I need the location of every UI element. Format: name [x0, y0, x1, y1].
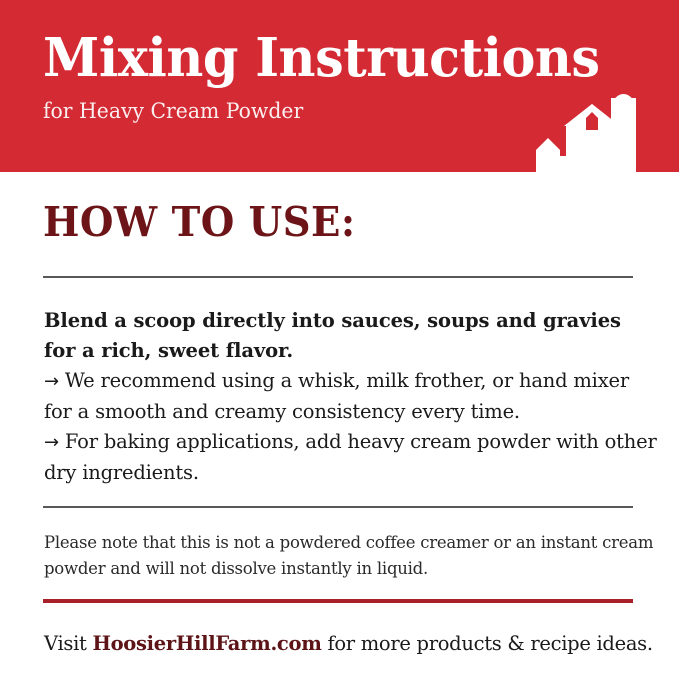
header-text-block: Mixing Instructions for Heavy Cream Powd… [43, 27, 563, 125]
instruction-bullet-2-line-1: → For baking applications, add heavy cre… [44, 427, 644, 458]
disclaimer-line-1: Please note that this is not a powdered … [44, 530, 644, 556]
arrow-right-icon-2: → [44, 432, 59, 453]
header-banner: Mixing Instructions for Heavy Cream Powd… [0, 0, 679, 172]
instruction-bullet-2-line-1-text: For baking applications, add heavy cream… [65, 430, 657, 453]
section-heading: HOW TO USE: [43, 197, 356, 247]
instruction-bullet-1-line-1-text: We recommend using a whisk, milk frother… [65, 369, 629, 392]
brand-website-link[interactable]: HoosierHillFarm.com [92, 632, 321, 655]
instruction-lead-line-1: Blend a scoop directly into sauces, soup… [44, 306, 644, 336]
instructions-block: Blend a scoop directly into sauces, soup… [44, 306, 644, 488]
instruction-bullet-1-line-1: → We recommend using a whisk, milk froth… [44, 366, 644, 397]
page-title: Mixing Instructions [43, 27, 542, 89]
barn-silo-icon [526, 80, 646, 172]
mixing-instructions-card: Mixing Instructions for Heavy Cream Powd… [0, 0, 679, 679]
divider-bottom [43, 506, 633, 508]
instruction-lead-line-2: for a rich, sweet flavor. [44, 336, 644, 366]
divider-footer-red [43, 599, 633, 603]
footer-line: Visit HoosierHillFarm.com for more produ… [44, 630, 664, 658]
disclaimer-note: Please note that this is not a powdered … [44, 530, 644, 582]
disclaimer-line-2: powder and will not dissolve instantly i… [44, 556, 644, 582]
footer-prefix: Visit [44, 632, 92, 655]
arrow-right-icon: → [44, 371, 59, 392]
divider-top [43, 276, 633, 278]
instruction-bullet-1-line-2: for a smooth and creamy consistency ever… [44, 397, 644, 427]
footer-suffix: for more products & recipe ideas. [322, 632, 653, 655]
page-subtitle: for Heavy Cream Powder [43, 97, 547, 125]
instruction-bullet-2-line-2: dry ingredients. [44, 458, 644, 488]
